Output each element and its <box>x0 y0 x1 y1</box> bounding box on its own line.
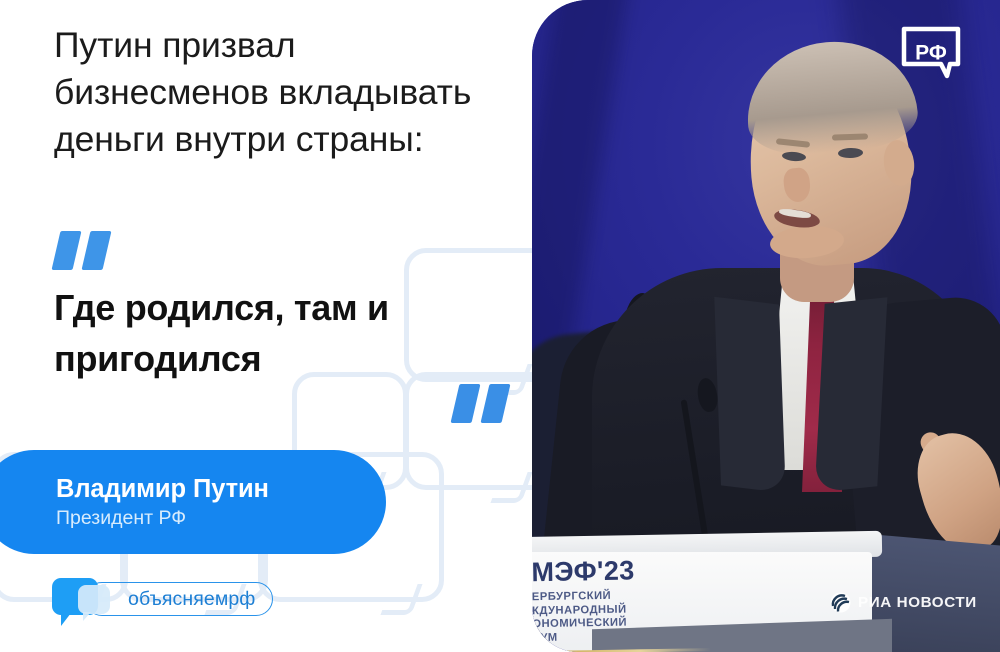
rf-badge-icon: РФ <box>900 24 962 82</box>
brand-label: объясняемрф <box>128 589 255 609</box>
ria-watermark-label: РИА НОВОСТИ <box>858 595 977 611</box>
ria-logo-icon <box>830 592 851 613</box>
brand-logo[interactable]: объясняемрф <box>52 578 114 622</box>
speech-bubble-ghost-icon <box>78 585 110 614</box>
svg-text:РФ: РФ <box>915 42 947 65</box>
podium-forum-logo: МЭФ'23 ЕРБУРГСКИЙ КДУНАРОДНЫЙ ОНОМИЧЕСКИ… <box>532 553 809 652</box>
suit-lapel-right <box>815 297 888 492</box>
quote-card: Путин призвал бизнесменов вкладывать ден… <box>0 0 1000 652</box>
podium-forum-subtitle: ЕРБУРГСКИЙ КДУНАРОДНЫЙ ОНОМИЧЕСКИЙ РУМ <box>532 586 809 646</box>
ria-novosti-watermark: РИА НОВОСТИ <box>830 592 977 613</box>
pull-quote-text: Где родился, там и пригодился <box>54 282 474 384</box>
eyebrow-right <box>832 133 868 140</box>
speech-bubble-icon <box>52 578 114 622</box>
suit-lapel-left <box>714 297 785 493</box>
speaker-role: Президент РФ <box>56 505 386 531</box>
headline-text: Путин призвал бизнесменов вкладывать ден… <box>54 22 484 163</box>
attribution-badge: Владимир Путин Президент РФ <box>0 450 386 554</box>
podium-forum-title: МЭФ'23 <box>532 553 808 586</box>
speaker-name: Владимир Путин <box>56 474 386 504</box>
close-quote-mark-icon <box>455 384 506 423</box>
open-quote-mark-icon <box>56 231 107 270</box>
left-content-panel: Путин призвал бизнесменов вкладывать ден… <box>0 0 540 652</box>
speaker-photo: МЭФ'23 ЕРБУРГСКИЙ КДУНАРОДНЫЙ ОНОМИЧЕСКИ… <box>532 0 1000 652</box>
